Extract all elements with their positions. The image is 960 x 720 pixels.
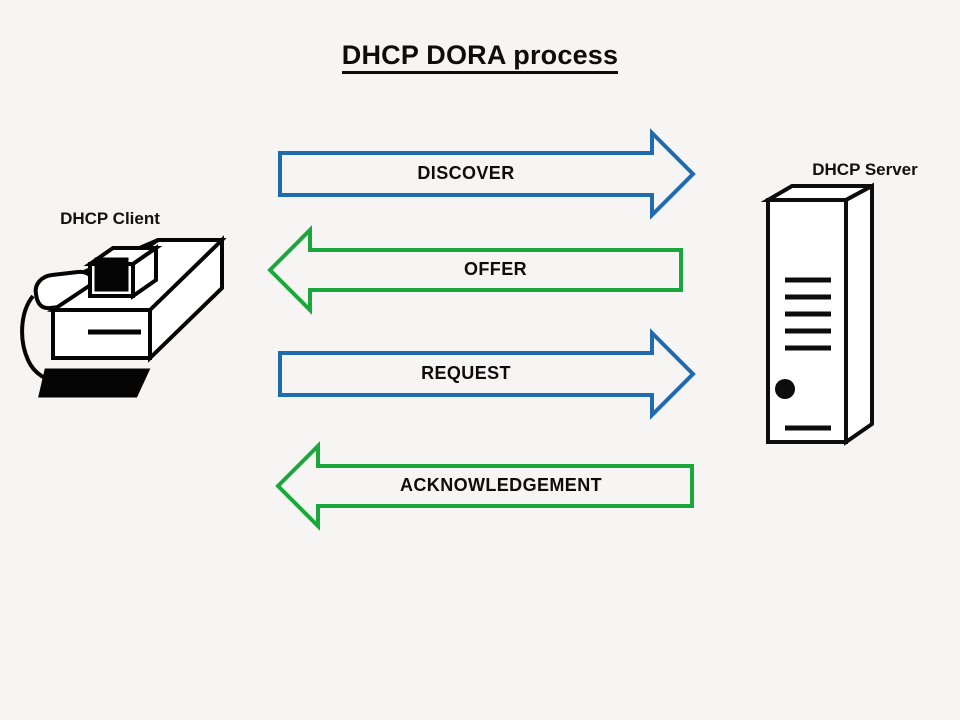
- arrow-request[interactable]: [280, 333, 693, 415]
- arrow-acknowledgement[interactable]: [278, 446, 692, 526]
- diagram-canvas: [0, 0, 960, 720]
- server-front-face: [768, 200, 846, 442]
- arrow-offer[interactable]: [270, 230, 681, 310]
- server-power-button-icon: [775, 379, 795, 399]
- server-side-face: [846, 186, 872, 442]
- dhcp-server-icon: [768, 186, 872, 442]
- dhcp-client-icon: [22, 240, 222, 396]
- arrow-discover[interactable]: [280, 133, 693, 215]
- client-monitor-screen: [96, 259, 127, 290]
